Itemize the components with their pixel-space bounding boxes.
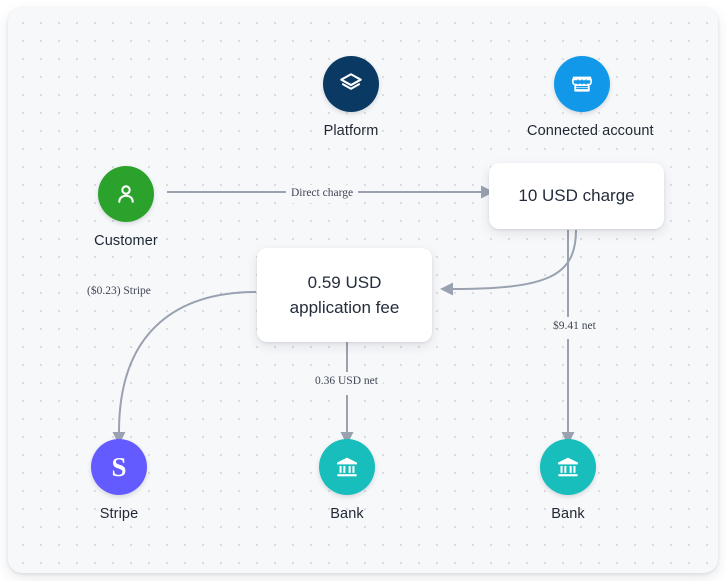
edge-fee-to-stripe xyxy=(113,292,257,445)
storefront-icon xyxy=(554,56,610,112)
person-icon xyxy=(98,166,154,222)
edge-label-stripe-fee: ($0.23) Stripe xyxy=(82,283,156,301)
edge-charge-to-fee xyxy=(440,230,576,296)
node-customer-label: Customer xyxy=(71,233,181,249)
node-charge-box[interactable]: 10 USD charge xyxy=(489,163,664,229)
application-fee-box-text: 0.59 USD application fee xyxy=(280,270,410,321)
node-customer[interactable]: Customer xyxy=(71,166,181,249)
stripe-s-glyph: S xyxy=(111,454,126,481)
node-platform-label: Platform xyxy=(296,123,406,139)
bank-icon xyxy=(540,439,596,495)
layers-icon xyxy=(323,56,379,112)
charge-box-text: 10 USD charge xyxy=(508,183,644,209)
node-bank-fee-label: Bank xyxy=(292,506,402,522)
stripe-s-icon: S xyxy=(91,439,147,495)
diagram-canvas[interactable]: Direct charge ($0.23) Stripe 0.36 USD ne… xyxy=(8,8,718,573)
node-bank-fee[interactable]: Bank xyxy=(292,439,402,522)
node-stripe-label: Stripe xyxy=(64,506,174,522)
application-fee-line-2: application fee xyxy=(290,295,400,321)
node-application-fee-box[interactable]: 0.59 USD application fee xyxy=(257,248,432,342)
edge-fee-to-bank xyxy=(341,342,354,445)
edge-label-charge-net: $9.41 net xyxy=(548,318,601,336)
node-connected-account-label: Connected account xyxy=(527,123,637,139)
node-platform[interactable]: Platform xyxy=(296,56,406,139)
node-bank-net-label: Bank xyxy=(513,506,623,522)
edge-label-fee-net: 0.36 USD net xyxy=(310,373,383,391)
node-connected-account[interactable]: Connected account xyxy=(527,56,637,139)
edge-charge-to-bank xyxy=(562,230,575,445)
bank-icon xyxy=(319,439,375,495)
edge-label-direct-charge: Direct charge xyxy=(286,185,358,203)
application-fee-line-1: 0.59 USD xyxy=(290,270,400,296)
node-bank-net[interactable]: Bank xyxy=(513,439,623,522)
node-stripe[interactable]: S Stripe xyxy=(64,439,174,522)
